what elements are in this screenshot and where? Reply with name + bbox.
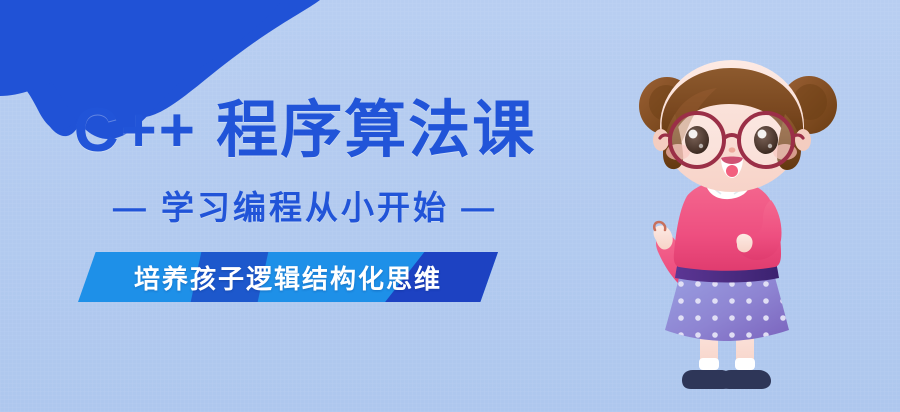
left-eye (685, 126, 709, 154)
subtitle: — 学习编程从小开始 — (0, 181, 610, 229)
nose (729, 147, 736, 152)
right-eye (754, 126, 778, 154)
left-sock (699, 358, 719, 370)
tagline-ribbon: 培养孩子逻辑结构化思维 (78, 252, 498, 302)
right-shoe (720, 370, 771, 389)
tongue (726, 165, 738, 177)
cartoon-girl-illustration (625, 58, 860, 398)
ribbon-label: 培养孩子逻辑结构化思维 (78, 252, 498, 302)
left-ear (653, 129, 669, 151)
right-sock (735, 358, 755, 370)
course-promo-banner: C++ 程序算法课 — 学习编程从小开始 — 培养孩子逻辑结构化思维 (0, 0, 900, 412)
page-title: C++ 程序算法课 (0, 96, 610, 165)
title-block: C++ 程序算法课 — 学习编程从小开始 — (0, 96, 610, 229)
right-ear (795, 129, 811, 151)
